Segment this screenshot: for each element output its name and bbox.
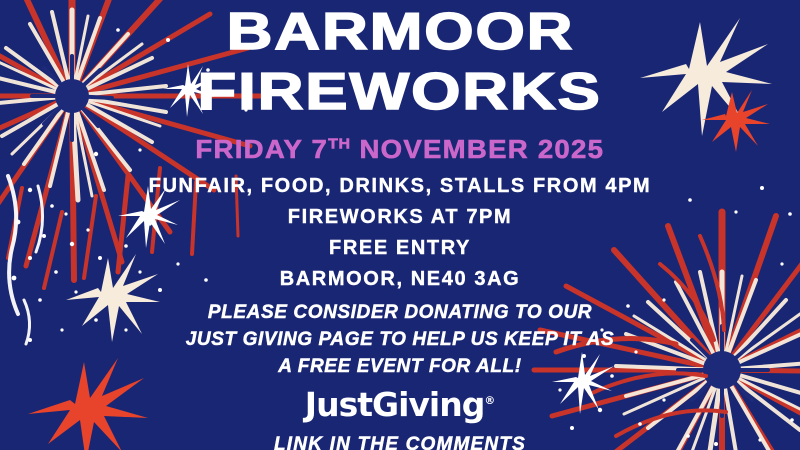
fireworks-event-poster: BARMOOR FIREWORKS FRIDAY 7TH NOVEMBER 20… xyxy=(0,0,800,450)
firework-background-artwork xyxy=(0,0,800,450)
